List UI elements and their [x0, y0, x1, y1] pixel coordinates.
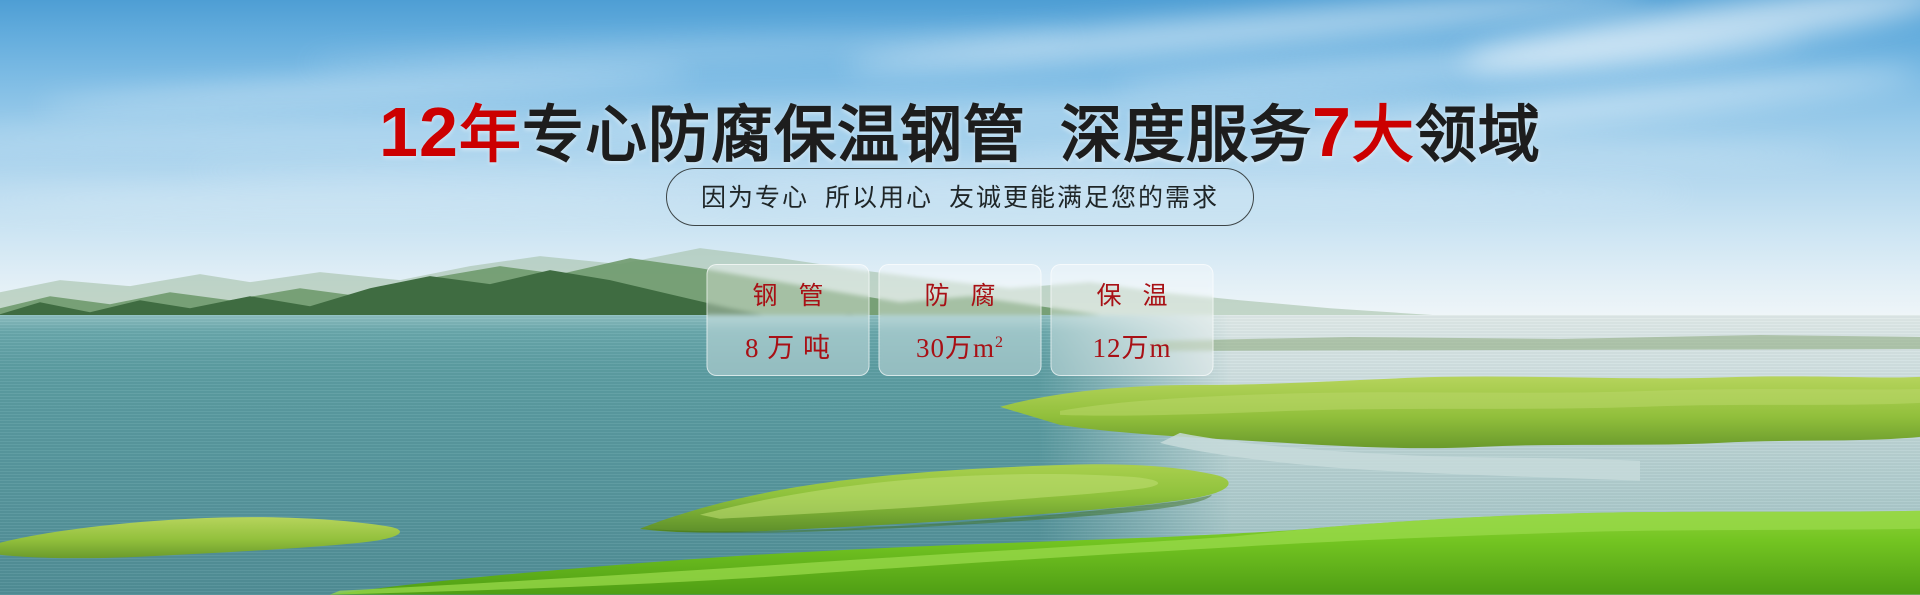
stat-value-text: 30万m: [916, 333, 995, 363]
headline-fields-measure: 大: [1352, 101, 1415, 170]
stat-card-group: 钢 管 8 万 吨 防 腐 30万m2 保 温 12万m: [707, 264, 1214, 376]
stat-value: 8 万 吨: [745, 326, 831, 365]
stat-value: 30万m2: [916, 326, 1004, 365]
subtitle-part-3: 友诚更能满足您的需求: [949, 184, 1219, 212]
subtitle-pill: 因为专心所以用心友诚更能满足您的需求: [666, 168, 1254, 226]
left-marsh-patch: [0, 518, 400, 559]
headline-years-number: 12: [379, 93, 459, 171]
headline-service-text: 深度服务: [1060, 101, 1312, 170]
stat-value-text: 12万m: [1092, 333, 1171, 363]
stat-card-insulation[interactable]: 保 温 12万m: [1051, 264, 1214, 376]
headline-main-text: 专心防腐保温钢管: [522, 101, 1026, 170]
stat-card-steel-pipe[interactable]: 钢 管 8 万 吨: [707, 264, 870, 376]
headline-fields-number: 7: [1312, 93, 1352, 171]
page-title: 12年专心防腐保温钢管深度服务7大领域: [0, 84, 1920, 174]
headline-fields-text: 领域: [1415, 101, 1541, 170]
subtitle-part-1: 因为专心: [701, 184, 809, 212]
subtitle-part-2: 所以用心: [825, 184, 933, 212]
stat-value-superscript: 2: [995, 334, 1004, 351]
stat-value-text: 8 万 吨: [745, 333, 831, 363]
hero-banner: 12年专心防腐保温钢管深度服务7大领域 因为专心所以用心友诚更能满足您的需求 钢…: [0, 0, 1920, 595]
stat-label: 钢 管: [746, 276, 831, 312]
stat-label: 保 温: [1090, 276, 1175, 312]
stat-label: 防 腐: [918, 276, 1003, 312]
stat-card-anticorrosion[interactable]: 防 腐 30万m2: [879, 264, 1042, 376]
stat-value: 12万m: [1092, 326, 1171, 365]
subtitle-container: 因为专心所以用心友诚更能满足您的需求: [0, 168, 1920, 226]
far-shore-strip: [1150, 335, 1920, 351]
headline-years-unit: 年: [459, 101, 522, 170]
